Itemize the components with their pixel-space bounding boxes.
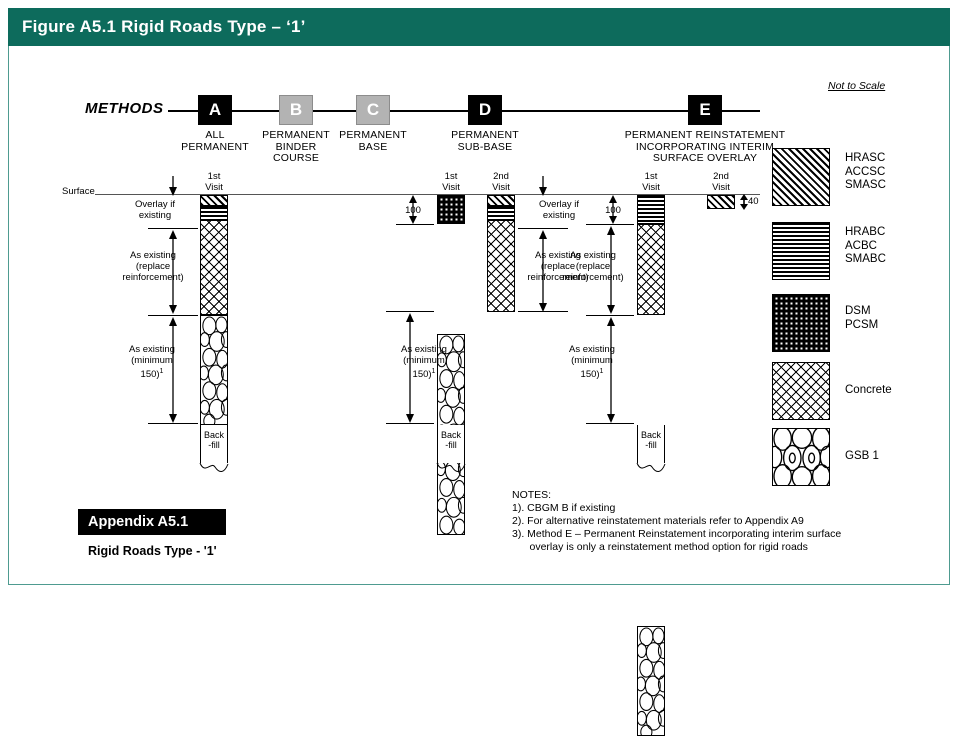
annotation-d1-min-ref: 1 (432, 368, 436, 375)
annotation-e1-arrow-100 (606, 195, 620, 224)
annotation-d2-tick-2 (518, 311, 568, 312)
note-line-2: 2). For alternative reinstatement materi… (512, 515, 841, 528)
annotation-d1-tick-2 (386, 311, 434, 312)
method-box-b[interactable]: B (279, 95, 313, 125)
legend-swatch-hrasc (772, 148, 830, 206)
column-e1-backfill-label: Back-fill (637, 430, 665, 450)
methods-connector-line (168, 110, 760, 112)
annotation-a-as-existing-replace: As existing(replacereinforcement) (108, 250, 198, 283)
note-line-3: 3). Method E – Permanent Reinstatement i… (512, 528, 841, 541)
annotation-e1-arrow-min (604, 317, 618, 423)
annotation-e1-as-existing-min: As existing(minimum150)1 (546, 344, 638, 380)
page-title: Figure A5.1 Rigid Roads Type – ‘1’ (8, 17, 306, 37)
method-letter-b: B (290, 100, 302, 120)
figure-header-bar: Figure A5.1 Rigid Roads Type – ‘1’ (8, 8, 950, 46)
visit-caption-a1: 1stVisit (192, 172, 236, 193)
visit-caption-e2: 2ndVisit (699, 172, 743, 193)
column-a-break-line (199, 461, 229, 477)
notes-heading: NOTES: (512, 489, 841, 502)
annotation-d1-tick-1 (396, 224, 434, 225)
annotation-a-overlay: Overlay ifexisting (112, 199, 198, 221)
method-letter-a: A (209, 100, 221, 120)
appendix-subtitle: Rigid Roads Type - '1' (88, 544, 217, 558)
annotation-a-min-ref: 1 (160, 368, 164, 375)
method-letter-d: D (479, 100, 491, 120)
column-e1-layer-hrabc (637, 195, 665, 224)
method-box-c[interactable]: C (356, 95, 390, 125)
annotation-e1-arrow-replace (604, 226, 618, 314)
annotation-d1-arrow-min (403, 313, 417, 423)
column-e1-break-line (636, 461, 666, 477)
method-box-d[interactable]: D (468, 95, 502, 125)
method-box-e[interactable]: E (688, 95, 722, 125)
annotation-a-tick-1 (148, 228, 198, 229)
visit-caption-d2: 2ndVisit (479, 172, 523, 193)
legend-label-hrabc: HRABCACBCSMABC (845, 226, 886, 267)
appendix-title: Appendix A5.1 (88, 514, 188, 530)
legend-label-gsb: GSB 1 (845, 450, 879, 464)
annotation-e1-tick-1 (586, 224, 634, 225)
gsb-aggregate-pattern (773, 429, 829, 485)
column-d2-layer-hrabc (487, 206, 515, 220)
legend-swatch-gsb (772, 428, 830, 486)
column-a-layer-hrasc (200, 195, 228, 206)
column-d2-layer-concrete (487, 220, 515, 312)
column-d1-break-line (436, 461, 466, 477)
appendix-title-box: Appendix A5.1 (78, 509, 226, 535)
surface-label: Surface (62, 186, 95, 197)
legend-label-hrasc: HRASCACCSCSMASC (845, 152, 886, 193)
column-e1-layer-gsb (637, 626, 665, 736)
method-caption-d: PERMANENTSUB-BASE (435, 130, 535, 153)
column-d2-layer-hrasc (487, 195, 515, 206)
annotation-a-arrow-surface (166, 176, 180, 196)
visit-caption-e1: 1stVisit (629, 172, 673, 193)
annotation-d2-tick-1 (518, 228, 568, 229)
column-a-layer-hrabc (200, 206, 228, 220)
annotation-a-arrow-replace (166, 230, 180, 314)
annotation-e1-tick-2 (586, 315, 634, 316)
method-box-a[interactable]: A (198, 95, 232, 125)
column-e1-layer-concrete (637, 224, 665, 315)
method-letter-c: C (367, 100, 379, 120)
column-e2-layer-hrasc (707, 195, 735, 209)
annotation-d2-overlay: Overlay ifexisting (516, 199, 602, 221)
column-d1-layer-dsm (437, 195, 465, 224)
annotation-e1-as-existing-replace: As existing(replacereinforcement) (548, 250, 638, 283)
notes-block: NOTES: 1). CBGM B if existing 2). For al… (512, 489, 841, 554)
gsb-aggregate-pattern (201, 316, 227, 424)
legend-label-dsm: DSMPCSM (845, 305, 878, 332)
annotation-e2-dim40: 40 (748, 196, 772, 207)
annotation-d1-tick-3 (386, 423, 434, 424)
annotation-d2-arrow-surface (536, 176, 550, 196)
figure-page: Figure A5.1 Rigid Roads Type – ‘1’ METHO… (0, 0, 958, 593)
annotation-a-arrow-min (166, 317, 180, 423)
note-line-4: overlay is only a reinstatement method o… (512, 541, 841, 554)
annotation-a-as-existing-min: As existing(minimum150)1 (106, 344, 198, 380)
annotation-d1-as-existing-min: As existing(minimum150)1 (378, 344, 470, 380)
annotation-d1-arrow-100 (406, 195, 420, 224)
visit-caption-d1: 1stVisit (429, 172, 473, 193)
method-caption-c: PERMANENTBASE (323, 130, 423, 153)
legend-swatch-concrete (772, 362, 830, 420)
legend-label-concrete: Concrete (845, 384, 892, 398)
legend-swatch-hrabc (772, 222, 830, 280)
annotation-e1-tick-3 (586, 423, 634, 424)
column-d1-backfill-label: Back-fill (437, 430, 465, 450)
column-a-layer-gsb (200, 315, 228, 425)
annotation-a-tick-3 (148, 423, 198, 424)
gsb-aggregate-pattern (638, 627, 664, 735)
annotation-a-tick-2 (148, 315, 198, 316)
legend-swatch-dsm (772, 294, 830, 352)
note-line-1: 1). CBGM B if existing (512, 502, 841, 515)
method-letter-e: E (699, 100, 710, 120)
column-a-layer-concrete (200, 220, 228, 315)
column-a-backfill-label: Back-fill (200, 430, 228, 450)
annotation-e1-min-ref: 1 (600, 368, 604, 375)
methods-label: METHODS (85, 100, 164, 117)
not-to-scale-note: Not to Scale (828, 80, 885, 92)
